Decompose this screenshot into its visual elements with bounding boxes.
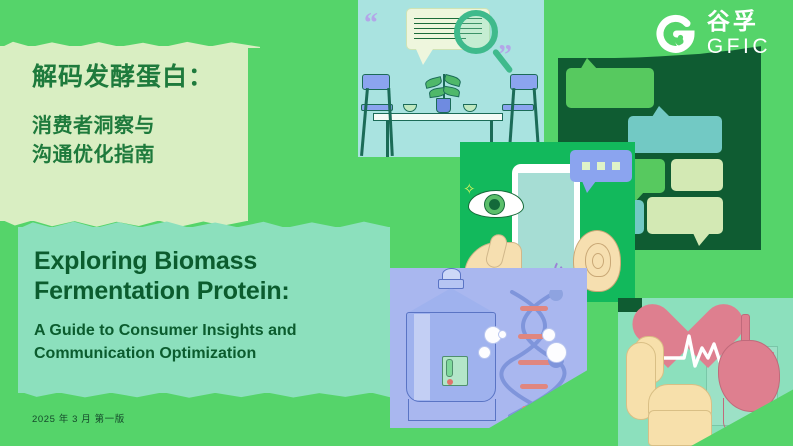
cup-right-icon (463, 104, 477, 112)
molecule-bubbles-icon (542, 328, 556, 342)
chat-bubble-tail-icon (693, 233, 710, 246)
magnifying-glass-icon (454, 10, 498, 54)
molecule-bubbles-icon (478, 346, 491, 359)
tank-neck-icon (438, 279, 464, 289)
page-title-en-line2: Fermentation Protein: (34, 276, 382, 306)
page-subtitle-en: A Guide to Consumer Insights and Communi… (34, 320, 384, 365)
indicator-light-icon (447, 379, 453, 385)
brand-name-cn: 谷孚 (707, 10, 771, 33)
version-label: 2025 年 3 月 第一版 (32, 411, 125, 425)
tank-cone-icon (406, 288, 496, 314)
molecule-bubbles-icon (546, 342, 567, 363)
chat-bubble (647, 197, 723, 234)
chat-bubble (671, 159, 723, 191)
page-subtitle-en-line1: A Guide to Consumer Insights and (34, 320, 384, 343)
quote-mark-open-icon: “ (364, 10, 378, 38)
plant-leaf-icon (442, 86, 460, 98)
page-title-en: Exploring Biomass Fermentation Protein: (34, 246, 382, 306)
health-nutrition-illustration (618, 298, 793, 446)
tablet-screen (518, 173, 574, 269)
chat-bubble-tail-icon (580, 58, 598, 70)
chat-bubble-tail-icon (582, 181, 596, 193)
speech-bubble-tail-icon (416, 49, 433, 65)
page-subtitle-cn-line1: 消费者洞察与 (32, 112, 247, 141)
gauge-icon (446, 359, 453, 377)
brand-name: 谷孚 GFIC (707, 10, 771, 57)
gfic-swirl-logo-icon (654, 12, 698, 56)
tank-highlight (414, 314, 430, 400)
potted-plant-icon (436, 98, 451, 113)
fermentation-tank-illustration (390, 268, 587, 428)
page-subtitle-cn-line2: 沟通优化指南 (32, 141, 247, 170)
brand-logo: 谷孚 GFIC (654, 10, 771, 57)
flexed-arm-muscle-icon (626, 336, 710, 434)
page-subtitle-cn: 消费者洞察与 沟通优化指南 (32, 112, 247, 170)
brand-name-en: GFIC (707, 36, 771, 57)
chat-bubble (628, 116, 722, 153)
molecule-bubbles-icon (498, 330, 507, 339)
consumer-interview-illustration: “ ” (358, 0, 544, 157)
tank-legs-icon (408, 399, 496, 421)
page-subtitle-en-line2: Communication Optimization (34, 343, 384, 366)
table-icon (373, 113, 503, 121)
chat-bubble-three-dots-icon (570, 150, 632, 182)
eye-icon (468, 190, 524, 218)
page-title-cn: 解码发酵蛋白： (32, 62, 247, 93)
cover-page: “ ” (0, 0, 793, 446)
page-title-en-line1: Exploring Biomass (34, 246, 382, 276)
chat-bubble (566, 68, 654, 108)
cup-left-icon (403, 104, 417, 112)
chat-bubble-tail-icon (652, 106, 670, 117)
